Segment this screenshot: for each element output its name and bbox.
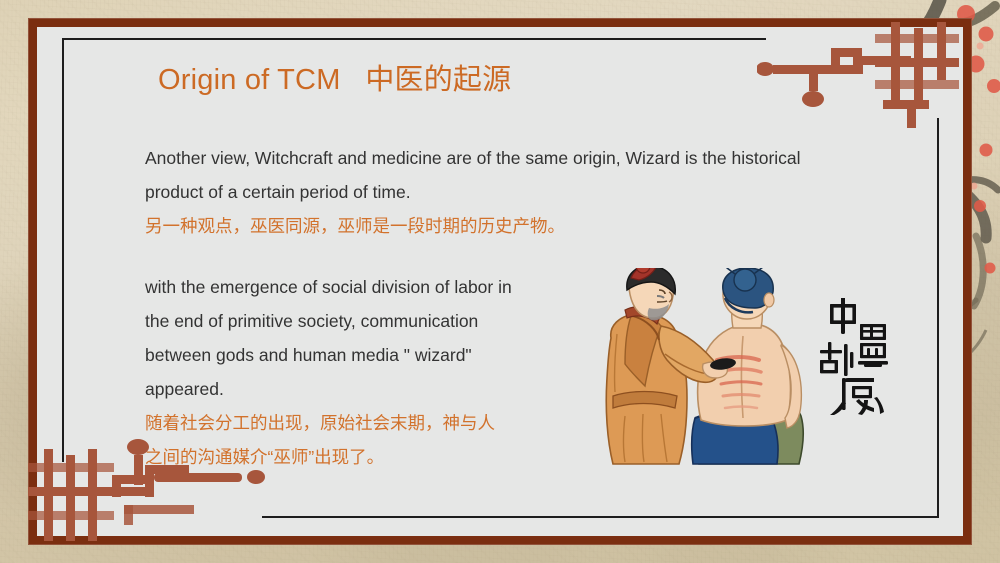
calligraphy-tcm-guasha [812,298,896,416]
paragraph-one: Another view, Witchcraft and medicine ar… [145,141,801,243]
lattice-ornament-top-right [757,18,972,138]
page-title: Origin of TCM 中医的起源 [158,56,511,98]
paragraph-one-en-line-1: Another view, Witchcraft and medicine ar… [145,141,801,175]
inner-rule-bottom [262,516,939,518]
paragraph-two-en-line-2: the end of primitive society, communicat… [145,304,512,338]
paragraph-two-en-line-4: appeared. [145,372,512,406]
slide-canvas: Origin of TCM 中医的起源 Another view, Witchc… [0,0,1000,563]
paragraph-one-cn-line-1: 另一种观点，巫医同源，巫师是一段时期的历史产物。 [145,209,801,243]
inner-rule-top [62,38,766,40]
inner-rule-left [62,38,64,462]
inner-rule-right [937,118,939,518]
paragraph-one-en-line-2: product of a certain period of time. [145,175,801,209]
paragraph-two-en-line-1: with the emergence of social division of… [145,270,512,304]
lattice-ornament-bottom-left [28,435,278,545]
paragraph-two-en-line-3: between gods and human media " wizard" [145,338,512,372]
